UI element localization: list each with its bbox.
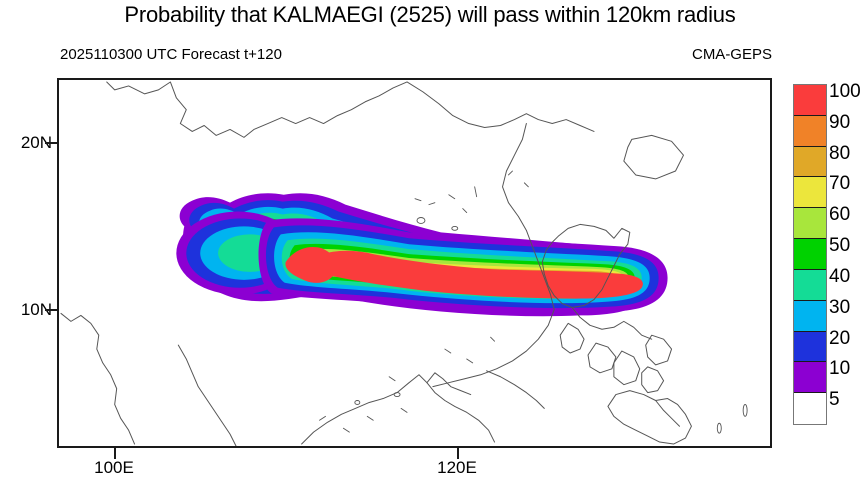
probability-colorbar[interactable] — [793, 84, 827, 425]
colorbar-band-20 — [794, 332, 826, 363]
colorbar-label-10: 10 — [829, 359, 850, 379]
colorbar-band-70 — [794, 177, 826, 208]
coast-china-east — [407, 82, 594, 131]
coast-indochina-west — [61, 313, 135, 444]
coast-palawan — [487, 371, 545, 409]
colorbar-label-100: 100 — [829, 82, 860, 102]
forecast-stamp: 2025110300 UTC Forecast t+120 — [60, 45, 282, 65]
subtitle-row: 2025110300 UTC Forecast t+120 CMA-GEPS — [57, 45, 772, 67]
coast-hainan — [624, 135, 684, 179]
map-plot-area[interactable] — [57, 78, 772, 448]
coast-samar — [646, 335, 672, 365]
colorbar-label-20: 20 — [829, 329, 850, 349]
y-axis-tickmark-10n — [45, 309, 57, 311]
colorbar-band-80 — [794, 147, 826, 178]
coast-negros — [614, 351, 640, 385]
colorbar-label-70: 70 — [829, 174, 850, 194]
coast-malay — [178, 345, 236, 446]
colorbar-band-30 — [794, 301, 826, 332]
x-axis-tickmark-120e — [457, 448, 459, 459]
x-axis-tickmark-100e — [114, 448, 116, 459]
probability-contours — [176, 193, 667, 316]
y-axis-tickmark-20n — [45, 142, 57, 144]
colorbar-label-80: 80 — [829, 144, 850, 164]
colorbar-label-30: 30 — [829, 298, 850, 318]
colorbar-band-5 — [794, 393, 826, 424]
x-axis-tick-100e: 100E — [69, 458, 159, 478]
map-canvas — [59, 80, 770, 446]
colorbar-label-90: 90 — [829, 113, 850, 133]
coast-mindoro — [560, 323, 584, 353]
coast-leyte — [642, 367, 664, 393]
coast-mindanao-detail — [656, 400, 680, 426]
coast-panay — [588, 343, 616, 373]
colorbar-label-5: 5 — [829, 390, 840, 410]
colorbar-label-60: 60 — [829, 205, 850, 225]
model-name: CMA-GEPS — [692, 45, 772, 65]
colorbar-band-90 — [794, 116, 826, 147]
coast-borneo — [302, 375, 495, 444]
colorbar-label-50: 50 — [829, 236, 850, 256]
coast-mindanao — [608, 391, 692, 444]
coast-south-china — [107, 82, 407, 137]
colorbar-band-40 — [794, 270, 826, 301]
colorbar-label-40: 40 — [829, 267, 850, 287]
colorbar-band-50 — [794, 239, 826, 270]
page-title: Probability that KALMAEGI (2525) will pa… — [0, 2, 860, 28]
colorbar-band-10 — [794, 362, 826, 393]
x-axis-tick-120e: 120E — [412, 458, 502, 478]
colorbar-band-100 — [794, 85, 826, 116]
colorbar-band-60 — [794, 208, 826, 239]
